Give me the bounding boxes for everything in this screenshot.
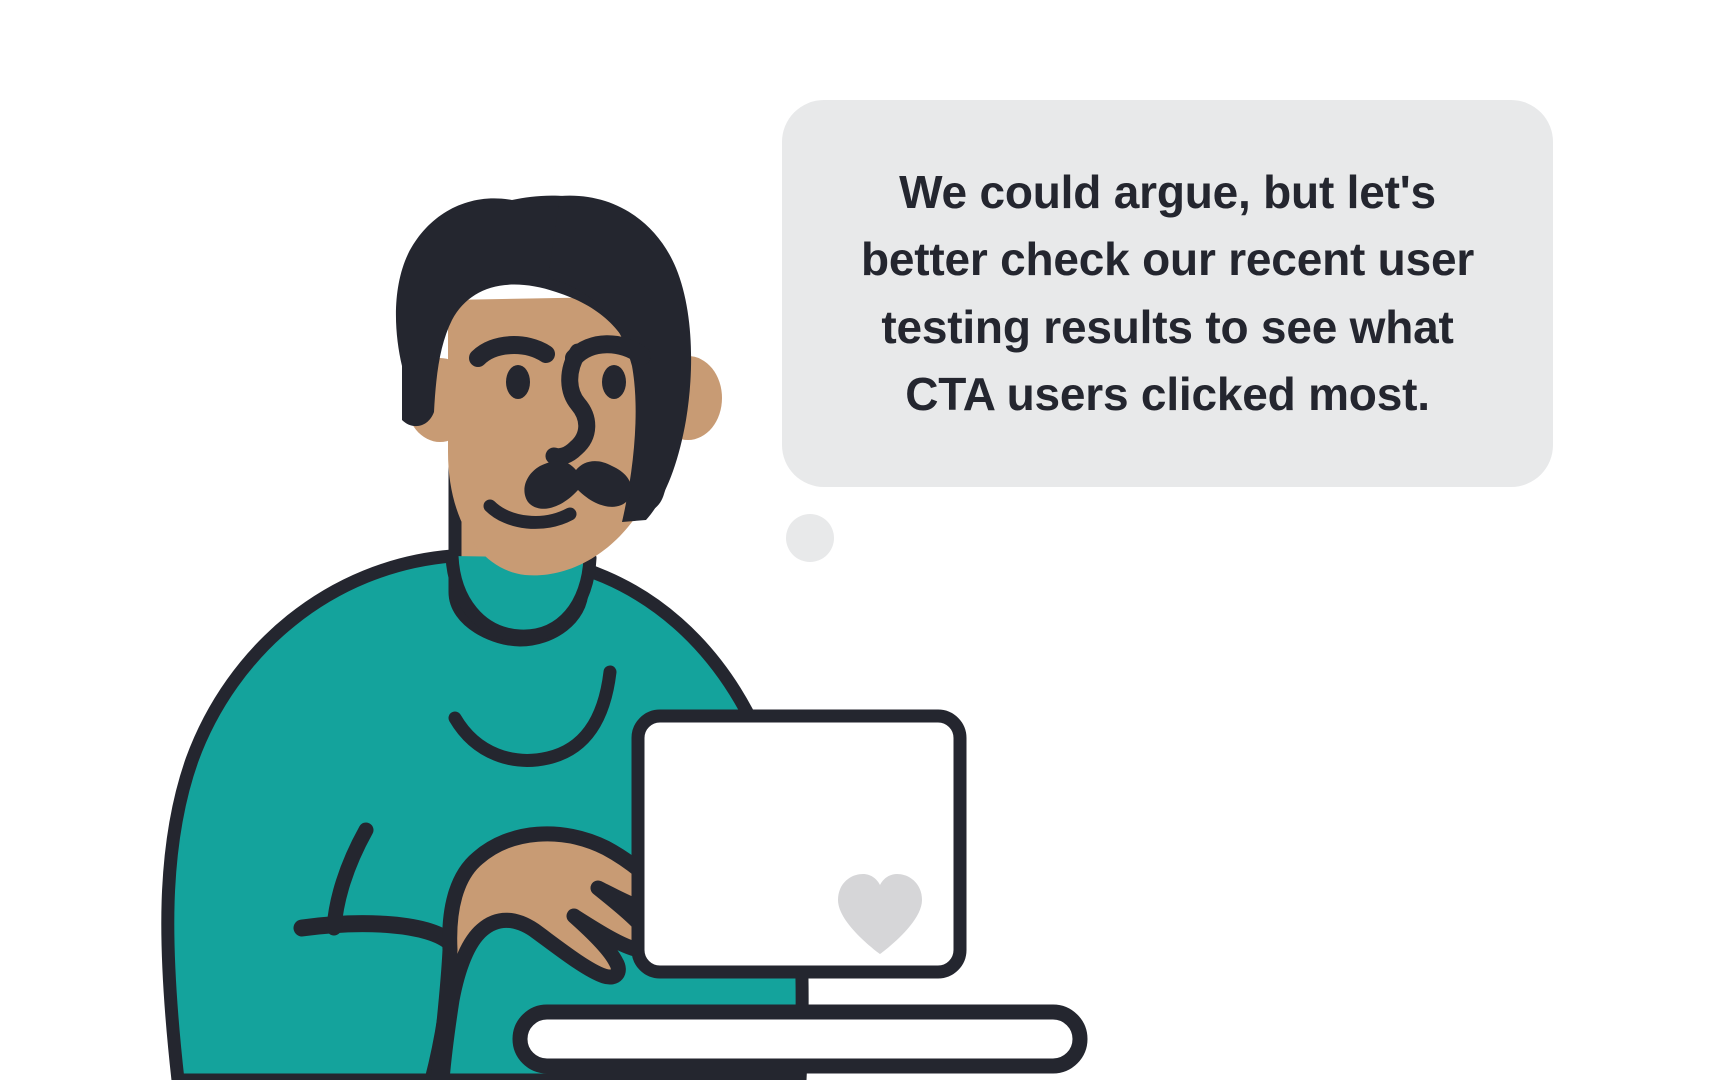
laptop-base: [520, 1012, 1080, 1066]
left-eye: [506, 365, 530, 399]
speech-bubble-text: We could argue, but let's better check o…: [830, 159, 1505, 428]
right-eye: [602, 365, 626, 399]
illustration-scene: We could argue, but let's better check o…: [0, 0, 1728, 1080]
speech-bubble: We could argue, but let's better check o…: [782, 100, 1553, 487]
laptop-screen: [638, 716, 960, 972]
head: [396, 196, 722, 576]
speech-bubble-tail: [786, 514, 834, 562]
